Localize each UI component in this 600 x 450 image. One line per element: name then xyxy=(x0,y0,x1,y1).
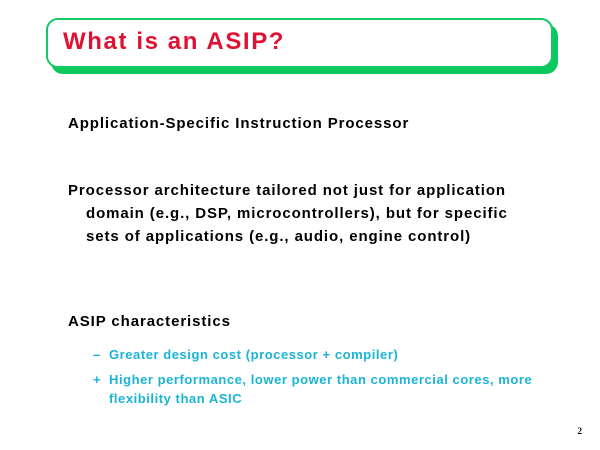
bullet-characteristics-heading: ASIP characteristics xyxy=(68,310,528,333)
bullet-description: Processor architecture tailored not just… xyxy=(68,179,531,248)
sub-bullet-drawback-label: Greater design cost (processor + compile… xyxy=(109,347,398,362)
slide-body: Application-Specific Instruction Process… xyxy=(0,0,600,450)
sub-bullet-benefit: +Higher performance, lower power than co… xyxy=(93,370,559,408)
slide-canvas: What is an ASIP? Application-Specific In… xyxy=(0,0,600,450)
minus-bullet-icon: – xyxy=(93,345,109,364)
page-number: 2 xyxy=(578,426,583,436)
bullet-definition: Application-Specific Instruction Process… xyxy=(68,112,528,135)
sub-bullet-drawback: –Greater design cost (processor + compil… xyxy=(93,345,559,364)
sub-bullet-benefit-label: Higher performance, lower power than com… xyxy=(109,372,532,406)
plus-bullet-icon: + xyxy=(93,370,109,389)
